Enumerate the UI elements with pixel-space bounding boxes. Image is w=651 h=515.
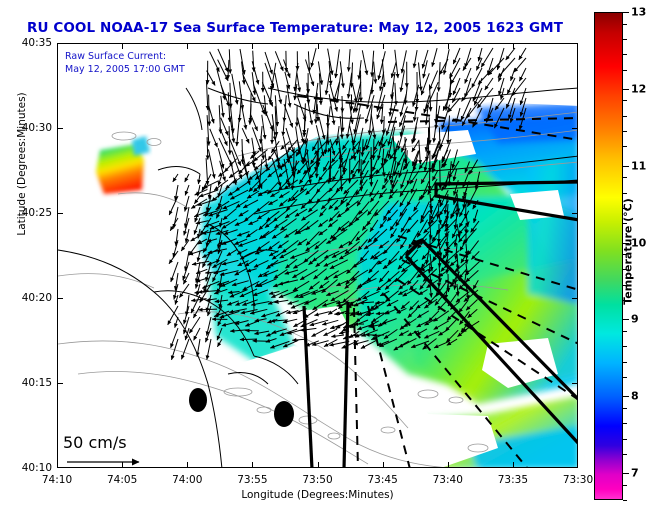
colorbar-title: Temperature (°C) <box>622 152 635 352</box>
x-tick-mark <box>383 462 384 467</box>
map-svg <box>58 44 578 468</box>
x-tick-mark <box>513 462 514 467</box>
map-plot-area[interactable]: Raw Surface Current: May 12, 2005 17:00 … <box>57 43 578 468</box>
x-tick-mark-top <box>187 44 188 49</box>
scale-arrow-icon <box>63 452 155 468</box>
y-axis-title: Latitude (Degrees:Minutes) <box>16 64 28 264</box>
annotation-line-1: Raw Surface Current: <box>65 51 185 64</box>
colorbar-tick-mark <box>623 473 629 474</box>
colorbar-minor-tick <box>623 100 627 101</box>
x-tick-mark <box>187 462 188 467</box>
y-tick-label: 40:35 <box>4 37 52 49</box>
x-tick-mark-top <box>318 44 319 49</box>
map-raster-layer <box>58 44 577 467</box>
colorbar-tick-label: 13 <box>631 6 646 19</box>
colorbar-tick-mark <box>623 396 629 397</box>
x-tick-mark-top <box>513 44 514 49</box>
y-tick-mark <box>58 298 63 299</box>
colorbar-minor-tick <box>623 500 627 501</box>
colorbar-tick-mark <box>623 89 629 90</box>
y-tick-label: 40:20 <box>4 292 52 304</box>
colorbar-tick-label: 8 <box>631 390 639 403</box>
x-tick-label: 73:30 <box>563 474 593 486</box>
x-tick-label: 73:40 <box>433 474 463 486</box>
y-tick-mark <box>58 213 63 214</box>
colorbar-minor-tick <box>623 39 627 40</box>
x-tick-mark-top <box>252 44 253 49</box>
x-tick-mark <box>252 462 253 467</box>
colorbar-minor-tick <box>623 362 627 363</box>
y-tick-mark-right <box>572 128 577 129</box>
x-tick-label: 73:35 <box>498 474 528 486</box>
station-marker-east[interactable] <box>274 401 294 427</box>
colorbar-minor-tick <box>623 485 627 486</box>
x-tick-mark <box>318 462 319 467</box>
x-tick-label: 73:50 <box>302 474 332 486</box>
x-tick-mark-top <box>122 44 123 49</box>
y-tick-mark <box>58 128 63 129</box>
station-marker-west[interactable] <box>189 388 207 412</box>
y-tick-mark <box>58 383 63 384</box>
x-tick-label: 74:05 <box>107 474 137 486</box>
y-tick-label: 40:25 <box>4 207 52 219</box>
colorbar-minor-tick <box>623 131 627 132</box>
x-tick-mark <box>448 462 449 467</box>
y-tick-mark-right <box>572 383 577 384</box>
colorbar-minor-tick <box>623 116 627 117</box>
colorbar-minor-tick <box>623 377 627 378</box>
x-tick-label: 73:55 <box>237 474 267 486</box>
colorbar-tick-label: 7 <box>631 467 639 480</box>
colorbar-minor-tick <box>623 54 627 55</box>
y-tick-mark-right <box>572 298 577 299</box>
x-tick-mark-top <box>383 44 384 49</box>
colorbar-minor-tick <box>623 146 627 147</box>
current-annotation: Raw Surface Current: May 12, 2005 17:00 … <box>65 51 185 76</box>
y-tick-label: 40:30 <box>4 122 52 134</box>
x-tick-label: 74:00 <box>172 474 202 486</box>
annotation-line-2: May 12, 2005 17:00 GMT <box>65 64 185 77</box>
figure-canvas: RU COOL NOAA-17 Sea Surface Temperature:… <box>0 0 651 515</box>
colorbar-tick-label: 12 <box>631 82 646 95</box>
colorbar-minor-tick <box>623 454 627 455</box>
scale-legend-label: 50 cm/s <box>63 433 155 452</box>
colorbar-minor-tick <box>623 24 627 25</box>
y-tick-label: 40:15 <box>4 377 52 389</box>
figure-title: RU COOL NOAA-17 Sea Surface Temperature:… <box>0 20 590 36</box>
y-tick-mark-right <box>572 213 577 214</box>
colorbar <box>594 12 623 500</box>
x-tick-mark-top <box>448 44 449 49</box>
colorbar-minor-tick <box>623 408 627 409</box>
x-tick-label: 73:45 <box>367 474 397 486</box>
x-axis-title: Longitude (Degrees:Minutes) <box>57 489 578 501</box>
colorbar-tick-mark <box>623 12 629 13</box>
colorbar-minor-tick <box>623 439 627 440</box>
colorbar-minor-tick <box>623 423 627 424</box>
velocity-scale-legend: 50 cm/s <box>63 433 155 468</box>
colorbar-minor-tick <box>623 70 627 71</box>
y-tick-label: 40:10 <box>4 462 52 474</box>
x-tick-label: 74:10 <box>42 474 72 486</box>
